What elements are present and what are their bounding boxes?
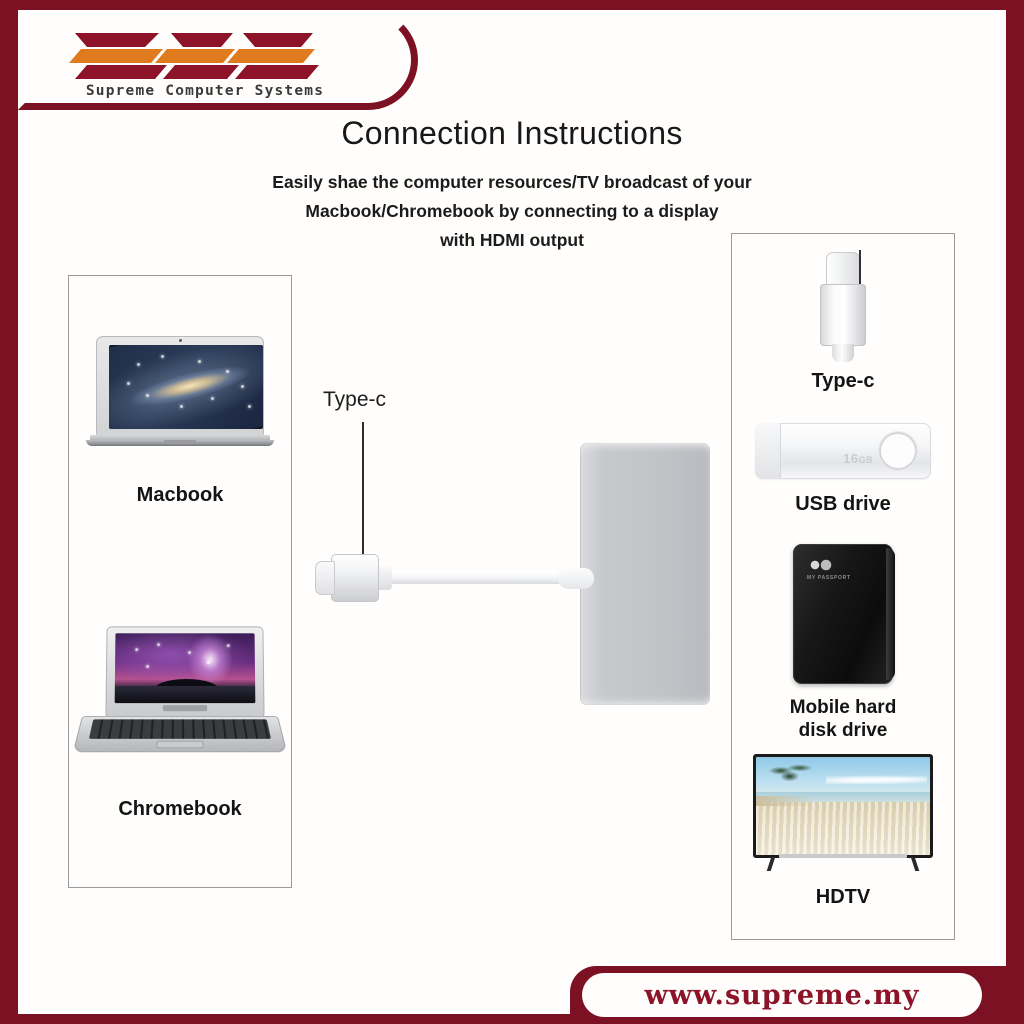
usb-c-connector-icon <box>808 252 878 364</box>
subtitle-line-2: Macbook/Chromebook by connecting to a di… <box>18 197 1006 226</box>
usb-capacity-unit: GB <box>858 455 873 465</box>
target-devices-panel: Type-c 16GB USB drive MY PASSPOR <box>731 233 955 940</box>
usb-c-plug-shell <box>331 554 379 602</box>
list-item-chromebook: Chromebook <box>69 626 291 821</box>
source-devices-panel: Macbook <box>68 275 292 888</box>
list-item-label-line-1: Mobile hard <box>732 696 954 719</box>
subtitle-line-1: Easily shae the computer resources/TV br… <box>18 168 1006 197</box>
list-item-label: USB drive <box>732 493 954 516</box>
list-item-label: HDTV <box>732 886 954 909</box>
page-title: Connection Instructions <box>18 115 1006 152</box>
brand-logo-subtitle: Supreme Computer Systems <box>55 83 355 99</box>
usb-flash-drive-icon: 16GB <box>755 419 931 483</box>
external-hard-drive-icon: MY PASSPORT <box>789 544 897 684</box>
macbook-laptop-icon <box>90 336 270 448</box>
usb-c-hub-adapter <box>580 443 710 705</box>
list-item-label: Macbook <box>69 484 291 507</box>
usb-c-plug-tip <box>315 561 335 595</box>
list-item-label: Type-c <box>732 370 954 393</box>
list-item-hdtv: HDTV <box>732 754 954 909</box>
scs-logo-icon <box>63 23 323 83</box>
typec-callout-label: Type-c <box>323 388 386 412</box>
list-item-typec: Type-c <box>732 252 954 393</box>
list-item-hard-drive: MY PASSPORT Mobile hard disk drive <box>732 544 954 742</box>
list-item-macbook: Macbook <box>69 336 291 507</box>
television-icon <box>753 754 933 872</box>
footer-watermark: www.supreme.my <box>570 966 1024 1024</box>
cable-boot-right <box>558 568 594 589</box>
callout-leader-line <box>362 422 364 562</box>
website-url[interactable]: www.supreme.my <box>582 973 982 1017</box>
chromebook-laptop-icon <box>82 626 278 758</box>
footer-pill: www.supreme.my <box>582 973 982 1017</box>
infographic-page: Supreme Computer Systems Connection Inst… <box>0 0 1024 1024</box>
white-cable <box>373 573 588 584</box>
list-item-label-line-2: disk drive <box>732 719 954 742</box>
list-item-usb-drive: 16GB USB drive <box>732 419 954 516</box>
list-item-label: Chromebook <box>69 798 291 821</box>
usb-capacity-value: 16 <box>843 451 858 466</box>
white-canvas: Supreme Computer Systems Connection Inst… <box>18 10 1006 1014</box>
brand-logo-badge: Supreme Computer Systems <box>18 10 418 110</box>
